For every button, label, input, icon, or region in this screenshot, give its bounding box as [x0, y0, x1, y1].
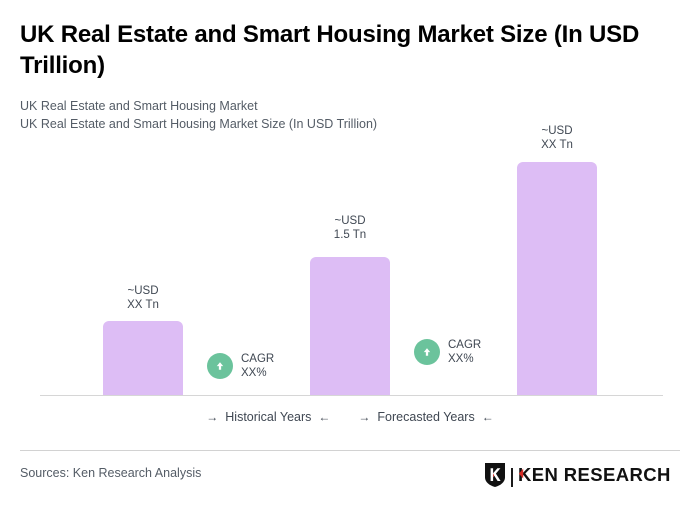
arrow-up-icon [414, 339, 440, 365]
period-legend: → Historical Years ← → Forecasted Years … [0, 410, 700, 424]
bar-mid[interactable] [310, 257, 390, 395]
ken-research-logo: KEN RESEARCH [484, 462, 670, 493]
period-historical-label: Historical Years [225, 410, 311, 424]
footer-divider [20, 450, 680, 451]
period-forecasted: → Forecasted Years ← [358, 410, 493, 424]
logo-divider [511, 468, 513, 487]
svg-text:KEN RESEARCH: KEN RESEARCH [518, 464, 670, 485]
sources-text: Sources: Ken Research Analysis [20, 466, 201, 480]
x-axis-line [40, 395, 663, 396]
arrow-up-icon [207, 353, 233, 379]
period-forecasted-label: Forecasted Years [377, 410, 474, 424]
arrow-right-icon: → [206, 411, 218, 423]
cagr-label-historical-to-mid: CAGR XX% [241, 352, 274, 380]
arrow-right-icon: → [358, 411, 370, 423]
bar-historical[interactable] [103, 321, 183, 395]
bar-chart-plot-area: ~USD XX Tn ~USD 1.5 Tn ~USD XX Tn CAGR X… [0, 0, 700, 400]
arrow-left-icon: ← [318, 411, 330, 423]
bar-value-label-forecast: ~USD XX Tn [517, 124, 597, 152]
cagr-badge-historical-to-mid[interactable]: CAGR XX% [207, 352, 274, 380]
arrow-left-icon: ← [482, 411, 494, 423]
bar-value-label-historical: ~USD XX Tn [103, 284, 183, 312]
period-historical: → Historical Years ← [206, 410, 330, 424]
bar-forecast[interactable] [517, 162, 597, 395]
shield-k-icon [484, 462, 506, 493]
cagr-label-mid-to-forecast: CAGR XX% [448, 338, 481, 366]
brand-wordmark: KEN RESEARCH [518, 464, 670, 491]
bar-value-label-mid: ~USD 1.5 Tn [310, 214, 390, 242]
cagr-badge-mid-to-forecast[interactable]: CAGR XX% [414, 338, 481, 366]
